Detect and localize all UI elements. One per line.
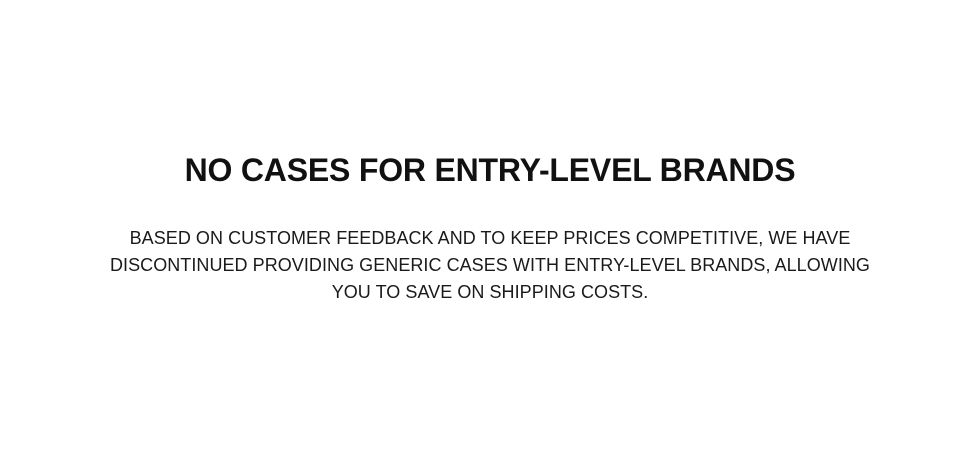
promo-body-line-2: DISCONTINUED PROVIDING GENERIC CASES WIT… [90,252,890,279]
promo-body-line-3: YOU TO SAVE ON SHIPPING COSTS. [90,279,890,306]
promo-body-line-1: BASED ON CUSTOMER FEEDBACK AND TO KEEP P… [90,225,890,252]
promo-heading: NO CASES FOR ENTRY-LEVEL BRANDS [0,150,980,190]
promo-body-text: BASED ON CUSTOMER FEEDBACK AND TO KEEP P… [90,225,890,306]
promo-banner: NO CASES FOR ENTRY-LEVEL BRANDS BASED ON… [0,0,980,450]
